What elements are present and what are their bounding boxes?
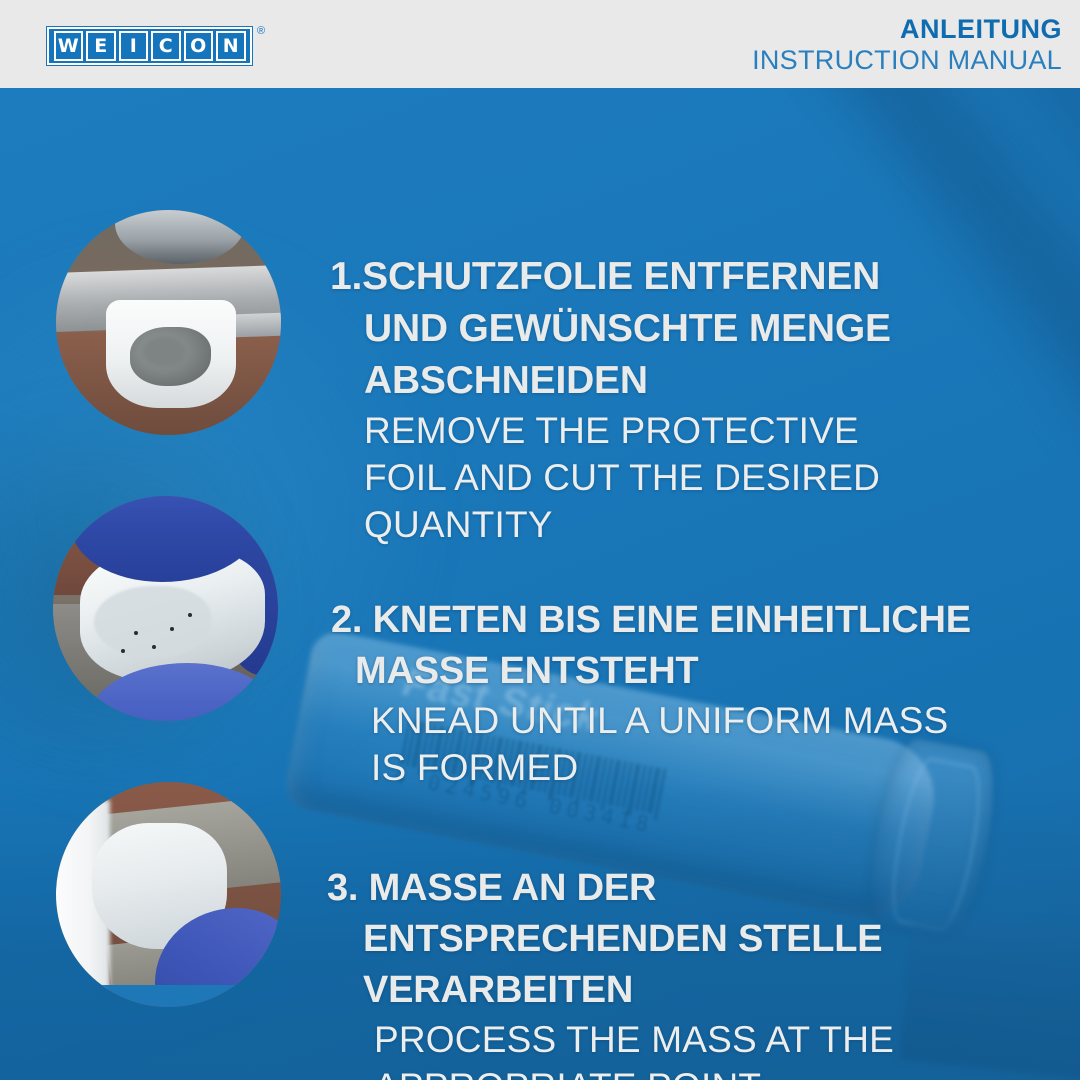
content-background: Fast Stick 4 024596 003418 [0, 88, 1080, 1080]
step-2-en-line-1: KNEAD UNTIL A UNIFORM MASS [371, 697, 1031, 744]
step-1-de-line-3: ABSCHNEIDEN [364, 355, 970, 407]
instruction-manual-page: W E I C O N ® ANLEITUNG INSTRUCTION MANU… [0, 0, 1080, 1080]
step-3-heading-en: PROCESS THE MASS AT THE APPROPRIATE POIN… [374, 1016, 987, 1080]
logo-letter-c: C [151, 31, 181, 61]
step-2-text: 2. KNETEN BIS EINE EINHEITLICHE MASSE EN… [331, 595, 1031, 791]
logo-letter-i: I [119, 31, 149, 61]
page-header: W E I C O N ® ANLEITUNG INSTRUCTION MANU… [0, 0, 1080, 88]
step-3-number: 3. [327, 867, 358, 909]
step-1-photo-image [56, 210, 281, 435]
step-2-number: 2. [331, 599, 362, 641]
step-1-de-line-2: UND GEWÜNSCHTE MENGE [364, 303, 970, 355]
step-2-photo [53, 496, 278, 721]
logo-letter-e: E [86, 31, 116, 61]
step-2-de-line-1: 2. KNETEN BIS EINE EINHEITLICHE [331, 595, 1031, 646]
step-2-heading-en: KNEAD UNTIL A UNIFORM MASS IS FORMED [371, 697, 1031, 791]
registered-trademark-icon: ® [257, 26, 265, 37]
step-1-photo [56, 210, 281, 435]
step-2-photo-image [53, 496, 278, 721]
step-3-photo-image [56, 782, 281, 1007]
step-1-heading-en: REMOVE THE PROTECTIVE FOIL AND CUT THE D… [364, 407, 970, 548]
step-1-de-line-1: 1.SCHUTZFOLIE ENTFERNEN [330, 251, 970, 303]
page-title-de: ANLEITUNG [752, 14, 1062, 44]
step-2-de-line-2: MASSE ENTSTEHT [355, 646, 1031, 697]
step-3-heading-de: 3. MASSE AN DER ENTSPRECHENDEN STELLE VE… [327, 863, 987, 1016]
step-2-en-line-2: IS FORMED [371, 744, 1031, 791]
step-2-heading-de: 2. KNETEN BIS EINE EINHEITLICHE MASSE EN… [331, 595, 1031, 697]
step-3-de-line-2: ENTSPRECHENDEN STELLE [363, 914, 987, 965]
step-1-en-line-1: REMOVE THE PROTECTIVE [364, 407, 970, 454]
step-1-heading-de: 1.SCHUTZFOLIE ENTFERNEN UND GEWÜNSCHTE M… [330, 251, 970, 407]
step-1-en-line-2: FOIL AND CUT THE DESIRED [364, 454, 970, 501]
page-title-en: INSTRUCTION MANUAL [752, 44, 1062, 76]
step-3-de-line-3: VERARBEITEN [363, 965, 987, 1016]
step-3-en-line-1: PROCESS THE MASS AT THE [374, 1016, 987, 1063]
step-1-en-line-3: QUANTITY [364, 501, 970, 548]
step-1-text: 1.SCHUTZFOLIE ENTFERNEN UND GEWÜNSCHTE M… [330, 251, 970, 548]
weicon-logo: W E I C O N [47, 27, 252, 65]
step-3-photo [56, 782, 281, 1007]
logo-letter-o: O [184, 31, 214, 61]
step-1-number: 1. [330, 255, 362, 298]
logo-letter-w: W [54, 31, 84, 61]
step-3-text: 3. MASSE AN DER ENTSPRECHENDEN STELLE VE… [327, 863, 987, 1080]
step-3-de-line-1: 3. MASSE AN DER [327, 863, 987, 914]
logo-letter-n: N [216, 31, 246, 61]
header-titles: ANLEITUNG INSTRUCTION MANUAL [752, 14, 1062, 76]
step-3-en-line-2: APPROPRIATE POINT [374, 1063, 987, 1080]
